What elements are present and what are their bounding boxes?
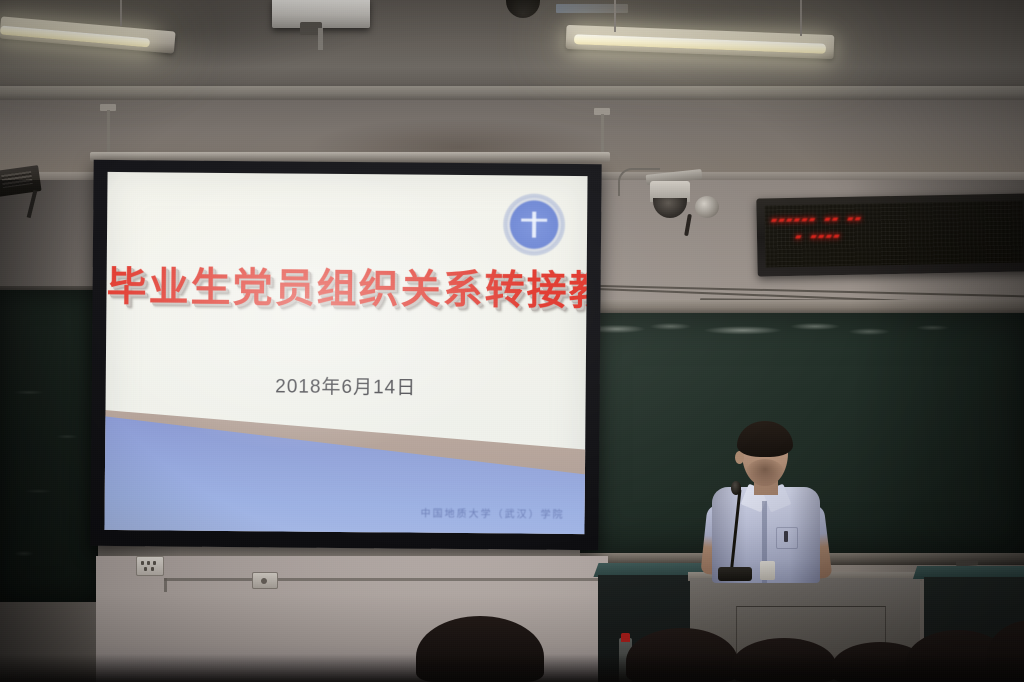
tube-right-hanger-a [614,0,616,32]
slide-date: 2018年6月14日 [106,370,586,401]
microphone-icon [731,481,741,495]
projector-mount [318,28,323,50]
presentation-slide: 毕业生党员组织关系转接教育 2018年6月14日 中国地质大学（武汉）学院 [104,172,587,534]
projector-label [556,4,628,13]
pen-icon [784,531,788,542]
slide-title: 毕业生党员组织关系转接教育 [106,254,586,316]
junction-box-dot [261,578,267,584]
presenter-hair [737,421,793,457]
led-text-line-2: ▰ ▰▰▰▰ [795,229,841,243]
presenter [690,415,840,583]
camera-knob [695,196,719,218]
foreground-shadow [0,654,1024,682]
led-text-line-1: ▰▰▰▰▰▰ ▰▰ ▰▰ [771,212,863,227]
lecture-hall-photo: ▰▰▰▰▰▰ ▰▰ ▰▰ ▰ ▰▰▰▰ 毕业生党员组织关系转接教育 2018年6… [0,0,1024,682]
screen-hook-left [107,110,110,154]
wall-power-outlet-icon [136,556,164,576]
paper-cup [760,561,775,580]
bottle-cap-1 [621,633,630,642]
wall-conduit [164,578,604,581]
emblem-inner-mark [521,212,547,238]
presenter-face-shading [746,459,784,485]
tube-right-hanger-b [800,0,802,36]
microphone-base [718,567,752,581]
tube-left-hanger [120,0,122,26]
